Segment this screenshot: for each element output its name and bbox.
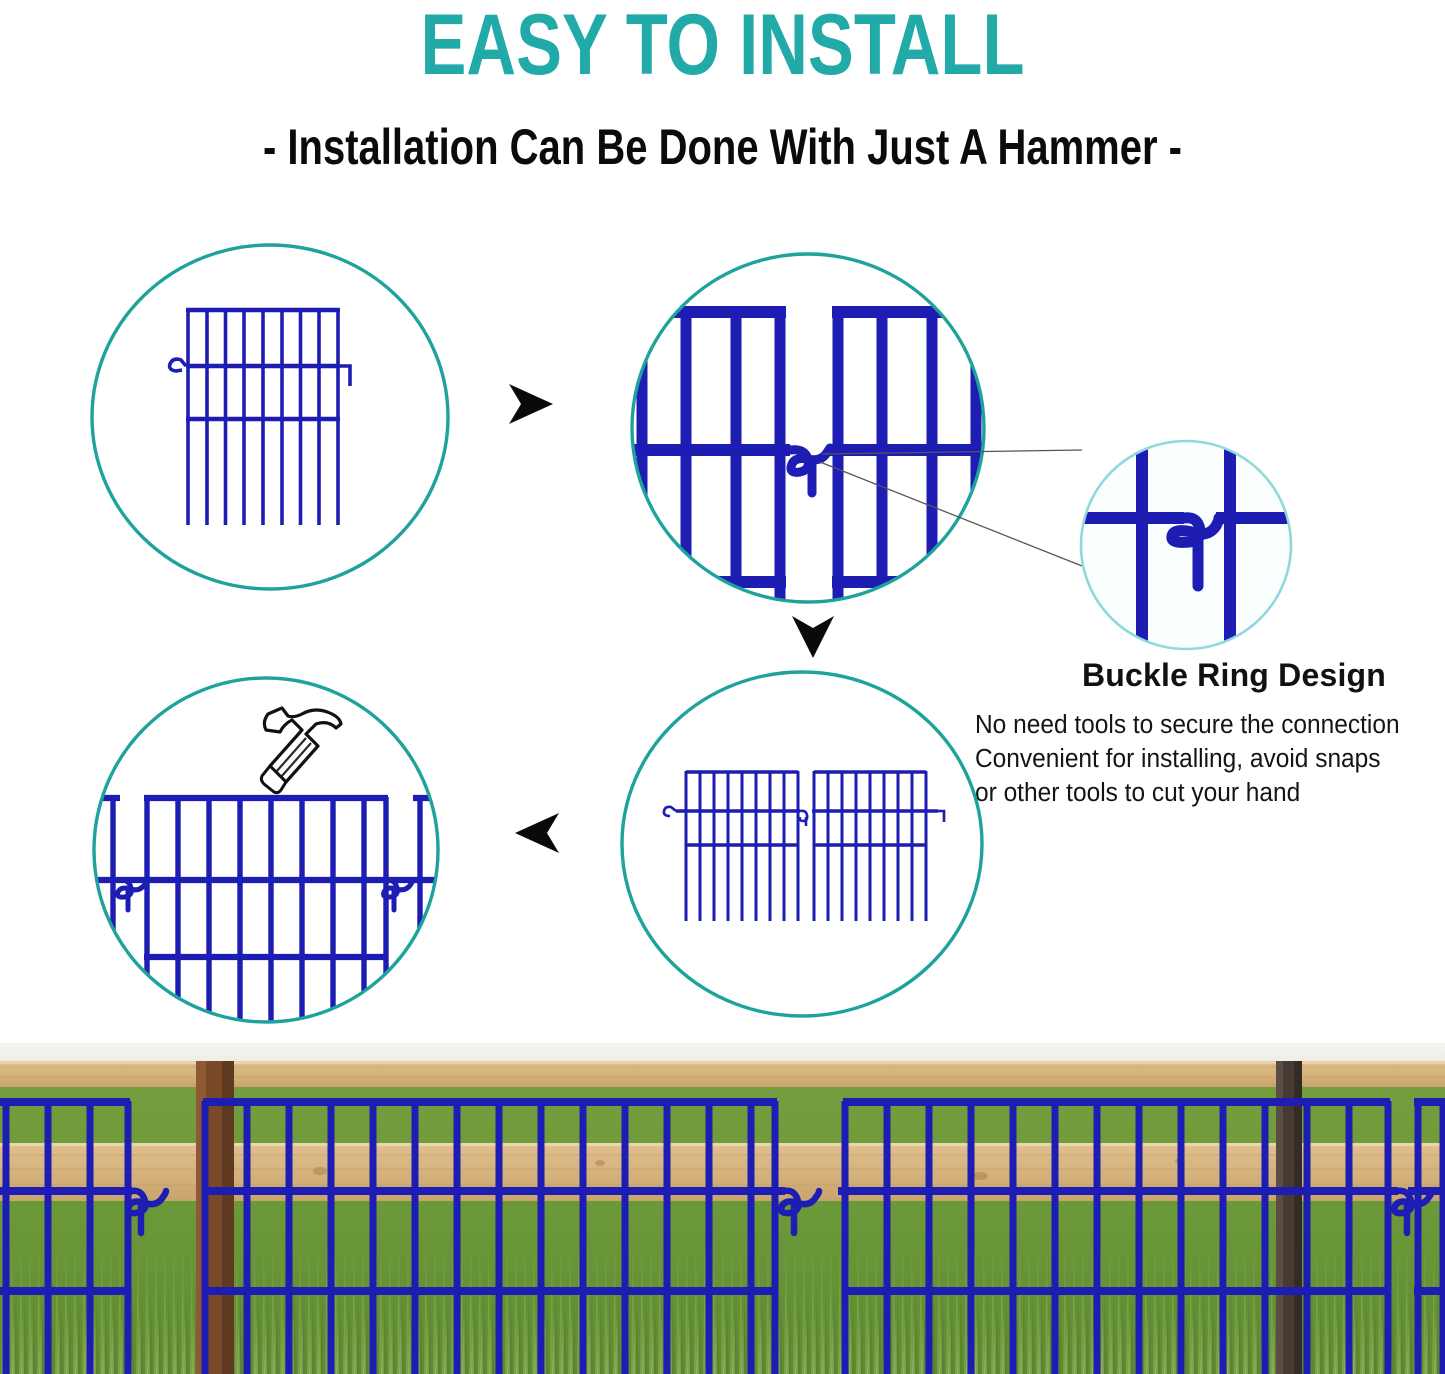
buckle-desc-line-1: No need tools to secure the connection bbox=[975, 708, 1426, 742]
step-2-buckle-connection bbox=[620, 248, 1000, 608]
infographic-page: EASY TO INSTALL - Installation Can Be Do… bbox=[0, 0, 1445, 1374]
step-4-hammer-install bbox=[80, 660, 480, 1040]
joined-panels-graphic bbox=[664, 771, 944, 921]
buckle-desc-line-2: Convenient for installing, avoid snaps bbox=[975, 742, 1426, 776]
fence-panel-graphic bbox=[170, 309, 350, 525]
page-subtitle: - Installation Can Be Done With Just A H… bbox=[145, 118, 1301, 176]
arrow-down-icon bbox=[784, 608, 842, 671]
metal-post bbox=[1276, 1061, 1302, 1374]
page-title: EASY TO INSTALL bbox=[145, 0, 1301, 95]
photo-background bbox=[0, 1043, 1445, 1374]
fence-closeup-graphic bbox=[620, 308, 1000, 608]
installed-fence-photo bbox=[0, 1043, 1445, 1374]
fence-assembled-graphic bbox=[88, 797, 444, 1040]
detail-buckle-ring-circle bbox=[1066, 438, 1306, 652]
buckle-ring-description: No need tools to secure the connection C… bbox=[975, 708, 1426, 810]
buckle-ring-hook bbox=[790, 448, 830, 493]
arrow-left-icon bbox=[505, 805, 567, 864]
hammer-icon bbox=[261, 708, 341, 793]
step-1-single-panel bbox=[78, 240, 468, 590]
step-circle-outline bbox=[622, 672, 982, 1016]
buckle-ring-design-heading: Buckle Ring Design bbox=[1024, 657, 1444, 694]
buckle-desc-line-3: or other tools to cut your hand bbox=[975, 776, 1426, 810]
leader-lines bbox=[820, 450, 1082, 566]
arrow-right-icon bbox=[503, 378, 563, 435]
buckle-ring-left bbox=[118, 880, 147, 910]
step-3-two-panels-joined bbox=[608, 668, 998, 1028]
